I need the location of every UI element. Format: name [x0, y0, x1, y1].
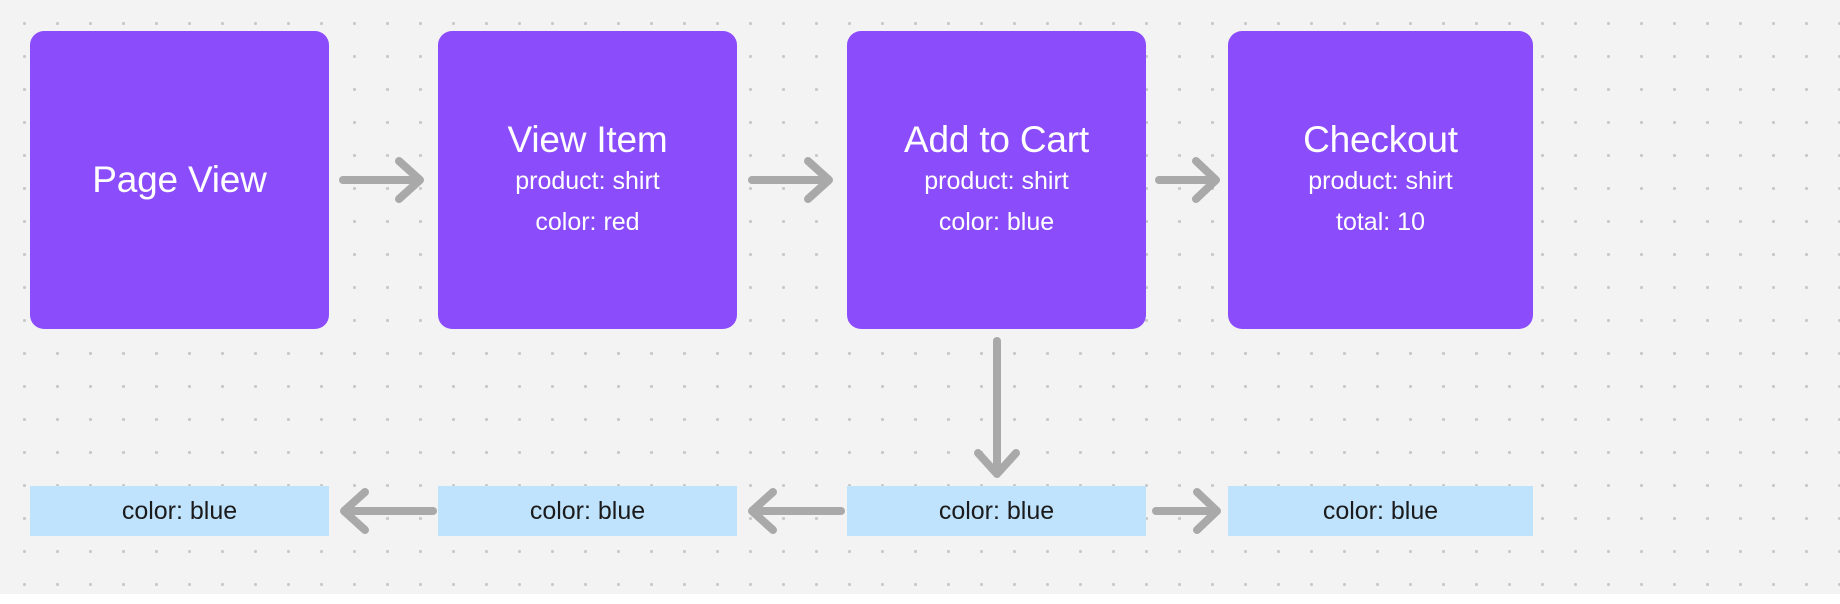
property-node-label: color: blue	[1323, 497, 1438, 526]
arrow-prop-3-to-prop-4	[1152, 486, 1226, 536]
event-node-property: product: shirt	[1308, 161, 1453, 202]
arrow-add-to-cart-down-to-prop-3	[972, 337, 1022, 483]
arrow-add-to-cart-to-checkout	[1155, 155, 1225, 205]
diagram-canvas-stage: Page View View Item product: shirt color…	[0, 0, 1840, 604]
event-node-properties: product: shirt color: blue	[924, 161, 1069, 242]
property-node-label: color: blue	[530, 497, 645, 526]
property-node-2[interactable]: color: blue	[438, 486, 737, 536]
event-node-add-to-cart[interactable]: Add to Cart product: shirt color: blue	[847, 31, 1146, 329]
property-node-label: color: blue	[939, 497, 1054, 526]
arrow-view-item-to-add-to-cart	[748, 155, 838, 205]
property-node-3[interactable]: color: blue	[847, 486, 1146, 536]
property-node-4[interactable]: color: blue	[1228, 486, 1533, 536]
event-node-property: product: shirt	[515, 161, 660, 202]
arrow-prop-3-to-prop-2	[745, 486, 845, 536]
event-node-page-view[interactable]: Page View	[30, 31, 329, 329]
property-node-1[interactable]: color: blue	[30, 486, 329, 536]
event-node-properties: product: shirt color: red	[515, 161, 660, 242]
event-node-property: color: red	[535, 202, 639, 243]
event-node-title: Checkout	[1303, 118, 1458, 162]
event-node-title: Add to Cart	[904, 118, 1089, 162]
event-node-checkout[interactable]: Checkout product: shirt total: 10	[1228, 31, 1533, 329]
arrow-page-view-to-view-item	[339, 155, 429, 205]
event-node-properties: product: shirt total: 10	[1308, 161, 1453, 242]
event-node-view-item[interactable]: View Item product: shirt color: red	[438, 31, 737, 329]
event-node-property: total: 10	[1336, 202, 1425, 243]
event-node-title: Page View	[92, 158, 266, 202]
event-node-property: product: shirt	[924, 161, 1069, 202]
event-node-title: View Item	[508, 118, 668, 162]
event-node-property: color: blue	[939, 202, 1054, 243]
property-node-label: color: blue	[122, 497, 237, 526]
arrow-prop-2-to-prop-1	[337, 486, 437, 536]
